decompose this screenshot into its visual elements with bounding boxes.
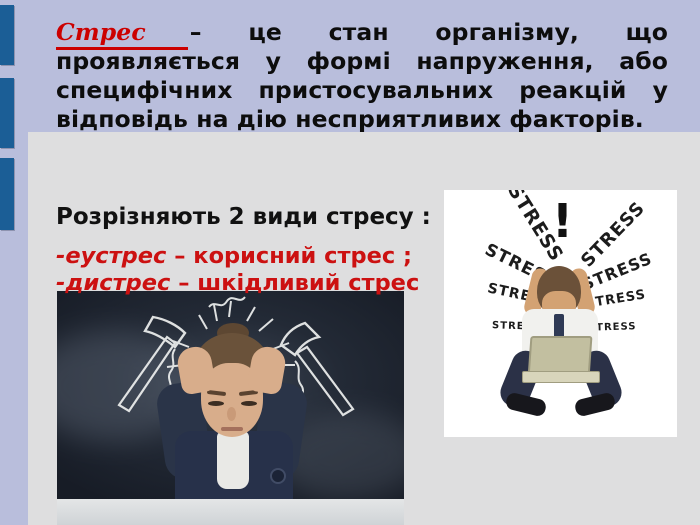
type-item-eustress-description: корисний стрес ; bbox=[193, 243, 412, 269]
type-item-eustress-name: -еустрес bbox=[56, 243, 166, 269]
woman-shirt-collar bbox=[217, 431, 249, 489]
woman-nose bbox=[227, 407, 236, 421]
type-item-eustress: -еустрес – корисний стрес ; bbox=[56, 243, 412, 270]
stress-man-photo: ! STRESS STRESS STRESS STRESS STRESS STR… bbox=[444, 190, 677, 437]
laptop-base bbox=[522, 371, 600, 383]
type-item-distress-description: шкідливий стрес bbox=[197, 270, 419, 296]
definition-paragraph: Стрес– це стан організму, що проявляєтьс… bbox=[56, 18, 668, 134]
presentation-slide: Стрес– це стан організму, що проявляєтьс… bbox=[0, 0, 700, 525]
type-item-eustress-dash: – bbox=[174, 243, 185, 269]
type-item-distress: -дистрес – шкідливий стрес bbox=[56, 270, 419, 297]
definition-term: Стрес bbox=[56, 18, 188, 50]
types-heading: Розрізняють 2 види стресу : bbox=[56, 204, 431, 231]
man-shoe-right bbox=[574, 391, 617, 417]
woman-mouth bbox=[221, 427, 243, 431]
woman-table-surface bbox=[57, 499, 404, 525]
stress-man-stage: ! STRESS STRESS STRESS STRESS STRESS STR… bbox=[444, 190, 677, 437]
woman-blazer-button bbox=[270, 468, 286, 484]
accent-bar-3 bbox=[0, 158, 14, 230]
accent-bar-1 bbox=[0, 5, 14, 65]
woman-eye-right bbox=[241, 401, 257, 406]
type-item-distress-dash: – bbox=[178, 270, 189, 296]
man-shoe-left bbox=[505, 391, 548, 417]
type-item-distress-name: -дистрес bbox=[56, 270, 170, 296]
stressed-woman-photo bbox=[57, 291, 404, 525]
accent-bar-2 bbox=[0, 78, 14, 148]
woman-eye-left bbox=[208, 401, 224, 406]
